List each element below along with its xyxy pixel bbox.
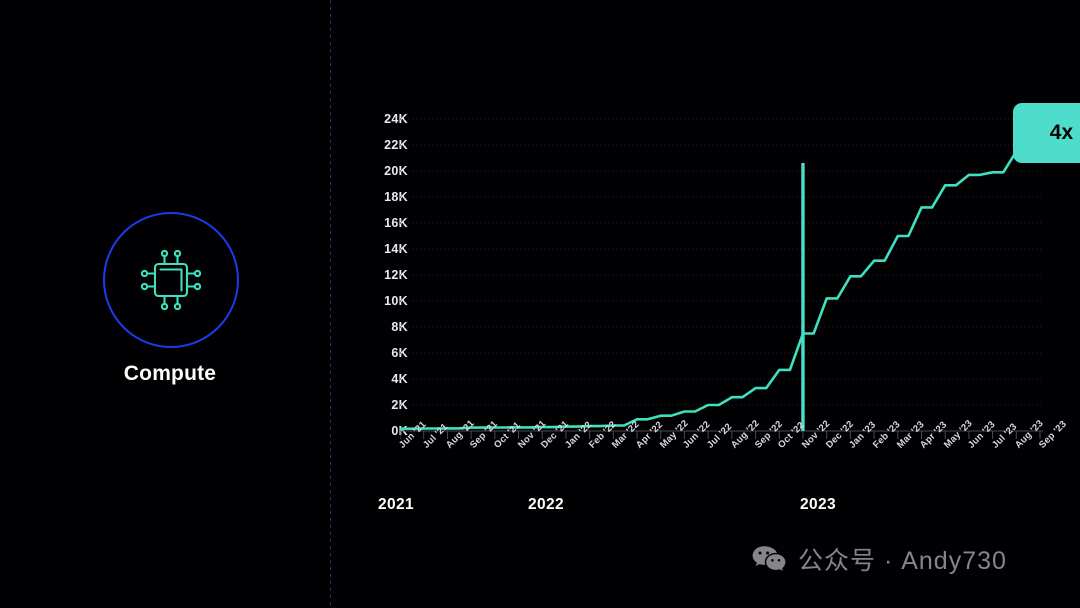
watermark: 公众号 · Andy730 [752,541,1007,577]
compute-label: Compute [0,362,340,386]
year-label: 2022 [528,496,564,514]
wechat-icon [752,545,786,573]
slide-canvas: Compute 0K2K4K6K8K10K12K14K16K18K20K22K2… [0,0,1080,608]
growth-chart: 0K2K4K6K8K10K12K14K16K18K20K22K24K Jun '… [330,0,1080,608]
growth-callout-label: 4x Growth [1050,121,1080,145]
year-label: 2023 [800,496,836,514]
growth-callout-badge: 4x Growth [1013,103,1080,163]
compute-icon-badge [103,212,239,348]
watermark-text: 公众号 · Andy730 [798,541,1007,577]
plot-region: Jun '21Jul '21Aug '21Sep '21Oct '21Nov '… [400,0,1045,608]
compute-panel: Compute [0,0,330,608]
year-label: 2021 [378,496,414,514]
cpu-chip-icon [134,243,208,317]
data-line [400,123,1040,429]
